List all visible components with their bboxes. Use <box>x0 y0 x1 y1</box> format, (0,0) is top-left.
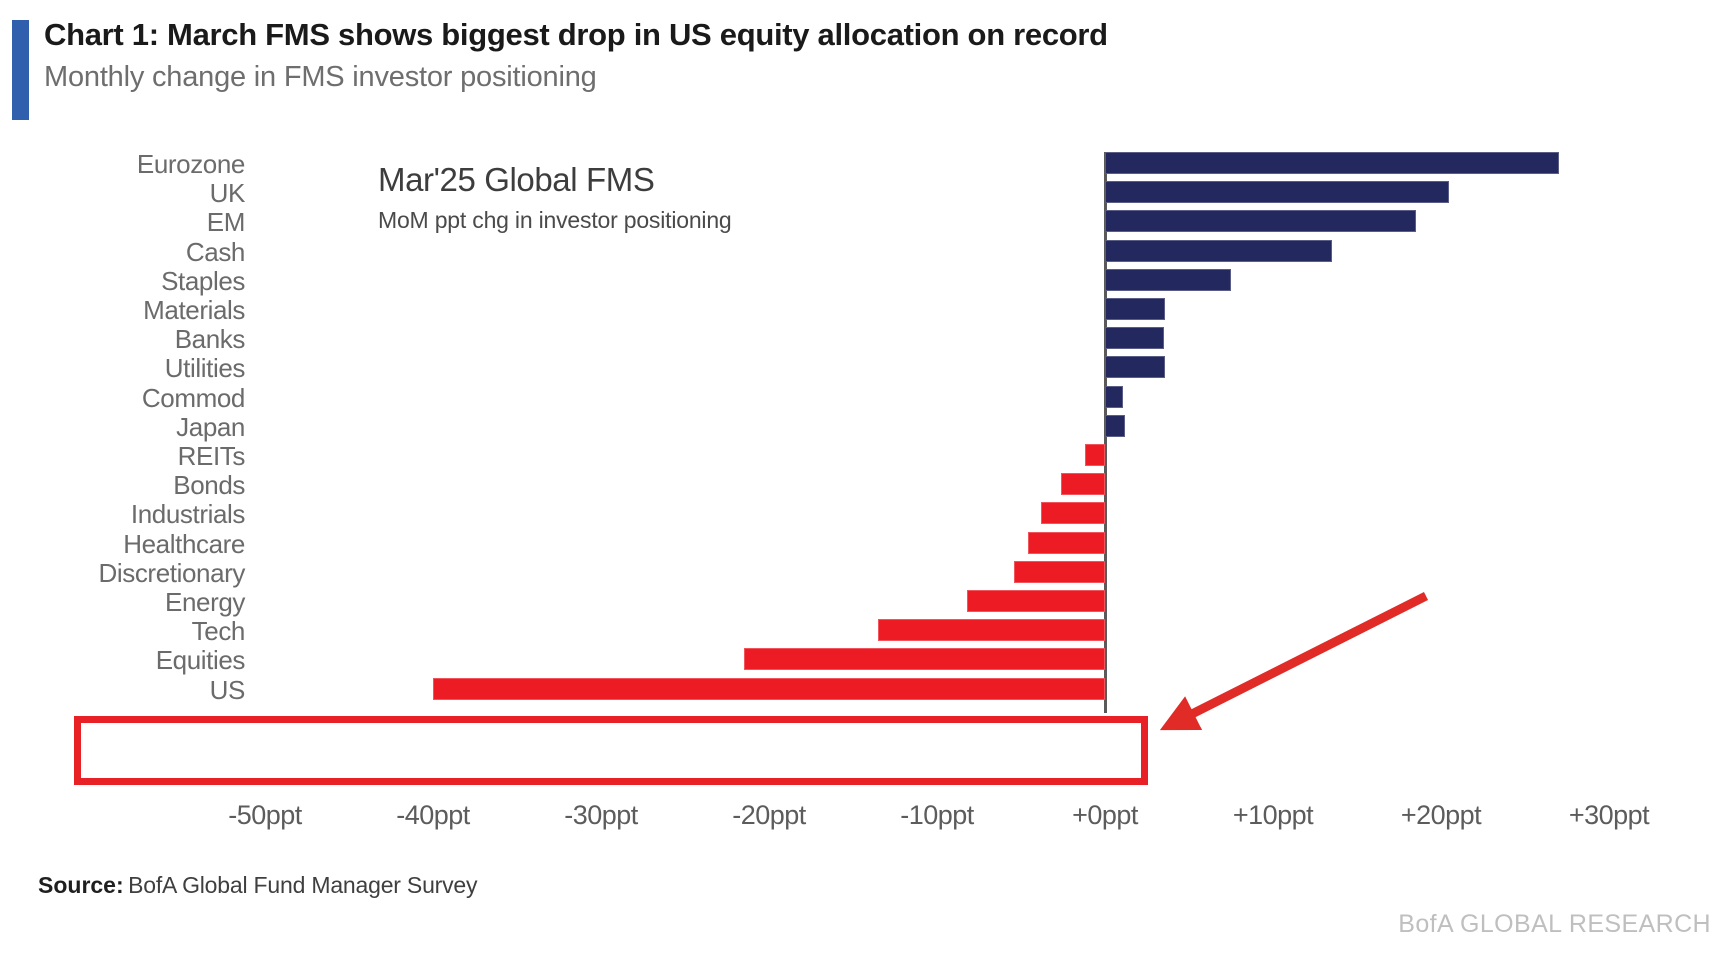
bar-us <box>433 678 1105 700</box>
bar-banks <box>1105 327 1164 349</box>
x-tick-30: +30ppt <box>1569 800 1649 831</box>
category-label-energy: Energy <box>0 589 245 615</box>
bar-row: Banks <box>0 327 1719 356</box>
x-tick-neg20: -20ppt <box>732 800 806 831</box>
bar-reits <box>1085 444 1105 466</box>
category-label-uk: UK <box>0 180 245 206</box>
plot-area: Mar'25 Global FMS MoM ppt chg in investo… <box>0 140 1719 780</box>
bar-tech <box>878 619 1105 641</box>
bar-materials <box>1105 298 1165 320</box>
category-label-reits: REITs <box>0 443 245 469</box>
bar-row: Staples <box>0 269 1719 298</box>
source-line: Source: BofA Global Fund Manager Survey <box>38 872 477 899</box>
bar-row: Equities <box>0 648 1719 677</box>
bar-eurozone <box>1105 152 1559 174</box>
highlight-rectangle <box>74 716 1148 785</box>
accent-bar <box>12 20 29 120</box>
x-tick-neg50: -50ppt <box>228 800 302 831</box>
chart-header: Chart 1: March FMS shows biggest drop in… <box>0 14 1719 124</box>
bar-energy <box>967 590 1105 612</box>
category-label-cash: Cash <box>0 239 245 265</box>
bar-row: Materials <box>0 298 1719 327</box>
category-label-healthcare: Healthcare <box>0 531 245 557</box>
category-label-discretionary: Discretionary <box>0 560 245 586</box>
bar-industrials <box>1041 502 1105 524</box>
category-label-tech: Tech <box>0 618 245 644</box>
bar-staples <box>1105 269 1231 291</box>
category-label-japan: Japan <box>0 414 245 440</box>
page-subtitle: Monthly change in FMS investor positioni… <box>44 56 1108 98</box>
category-label-banks: Banks <box>0 326 245 352</box>
bar-healthcare <box>1028 532 1105 554</box>
bar-row: Japan <box>0 415 1719 444</box>
bar-row: Discretionary <box>0 561 1719 590</box>
bar-bonds <box>1061 473 1105 495</box>
x-tick-0: +0ppt <box>1072 800 1138 831</box>
bar-row: Eurozone <box>0 152 1719 181</box>
category-label-staples: Staples <box>0 268 245 294</box>
bar-equities <box>744 648 1105 670</box>
bar-row: US <box>0 678 1719 707</box>
callout-arrow-icon <box>1130 560 1460 750</box>
category-label-em: EM <box>0 209 245 235</box>
bar-row: Bonds <box>0 473 1719 502</box>
bar-row: Energy <box>0 590 1719 619</box>
bar-em <box>1105 210 1416 232</box>
source-label: Source: <box>38 872 124 898</box>
page-title: Chart 1: March FMS shows biggest drop in… <box>44 14 1108 56</box>
bar-commod <box>1105 386 1123 408</box>
category-label-utilities: Utilities <box>0 355 245 381</box>
x-tick-20: +20ppt <box>1401 800 1481 831</box>
bar-row: Healthcare <box>0 532 1719 561</box>
watermark: BofA GLOBAL RESEARCH <box>1398 910 1711 939</box>
x-tick-neg30: -30ppt <box>564 800 638 831</box>
category-label-materials: Materials <box>0 297 245 323</box>
bar-utilities <box>1105 356 1165 378</box>
category-label-us: US <box>0 677 245 703</box>
bar-uk <box>1105 181 1449 203</box>
chart-page: Chart 1: March FMS shows biggest drop in… <box>0 0 1719 955</box>
bar-row: Cash <box>0 240 1719 269</box>
title-block: Chart 1: March FMS shows biggest drop in… <box>44 14 1108 98</box>
bar-row: Tech <box>0 619 1719 648</box>
category-label-bonds: Bonds <box>0 472 245 498</box>
bar-row: UK <box>0 181 1719 210</box>
category-label-commod: Commod <box>0 385 245 411</box>
x-axis: -50ppt-40ppt-30ppt-20ppt-10ppt+0ppt+10pp… <box>0 800 1719 850</box>
category-label-equities: Equities <box>0 647 245 673</box>
x-tick-neg10: -10ppt <box>900 800 974 831</box>
category-label-eurozone: Eurozone <box>0 151 245 177</box>
bar-discretionary <box>1014 561 1105 583</box>
bar-row: Commod <box>0 386 1719 415</box>
source-text: BofA Global Fund Manager Survey <box>128 872 477 898</box>
bar-cash <box>1105 240 1332 262</box>
bar-japan <box>1105 415 1125 437</box>
bar-row: Industrials <box>0 502 1719 531</box>
bar-row: EM <box>0 210 1719 239</box>
bar-row: REITs <box>0 444 1719 473</box>
category-label-industrials: Industrials <box>0 501 245 527</box>
x-tick-10: +10ppt <box>1233 800 1313 831</box>
x-tick-neg40: -40ppt <box>396 800 470 831</box>
bar-row: Utilities <box>0 356 1719 385</box>
